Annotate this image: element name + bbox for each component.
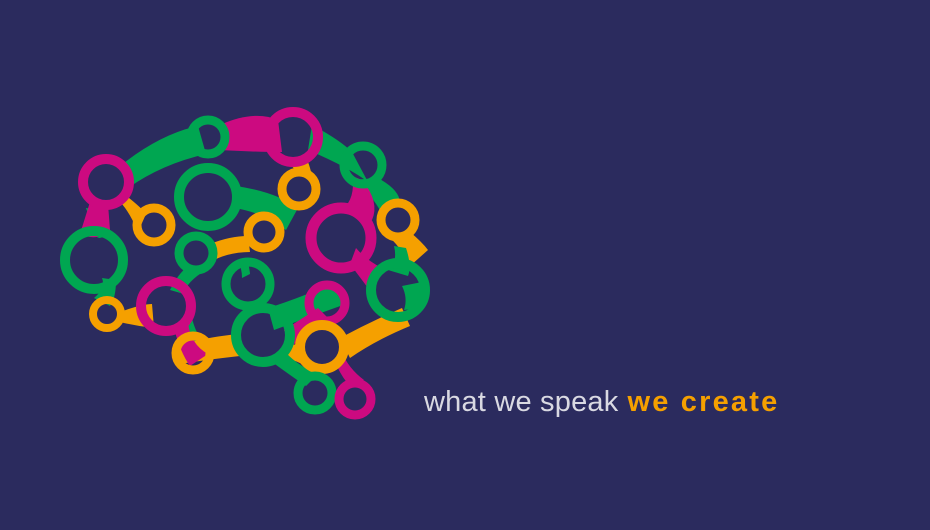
brain-network-svg: .lk-g { fill: #00a651; } .lk-m { fill: #… (50, 90, 440, 430)
node-n4 (282, 172, 316, 206)
node-n21 (298, 376, 332, 410)
node-n9 (311, 208, 371, 268)
node-n8 (381, 203, 415, 237)
node-n7 (137, 208, 171, 242)
node-n6 (179, 168, 237, 226)
node-n12 (179, 236, 213, 270)
tagline-plain-text: what we speak (424, 386, 618, 418)
node-n19 (236, 308, 290, 362)
node-n10 (248, 216, 280, 248)
node-n11 (65, 231, 123, 289)
tagline-accent-text: we create (627, 386, 779, 418)
brain-network-logo: .lk-g { fill: #00a651; } .lk-m { fill: #… (50, 90, 440, 430)
node-n20 (300, 325, 344, 369)
tagline: what we speakwe create (424, 388, 779, 417)
node-n22 (339, 383, 371, 415)
node-n5 (83, 159, 129, 205)
slide-canvas: .lk-g { fill: #00a651; } .lk-m { fill: #… (0, 0, 930, 530)
